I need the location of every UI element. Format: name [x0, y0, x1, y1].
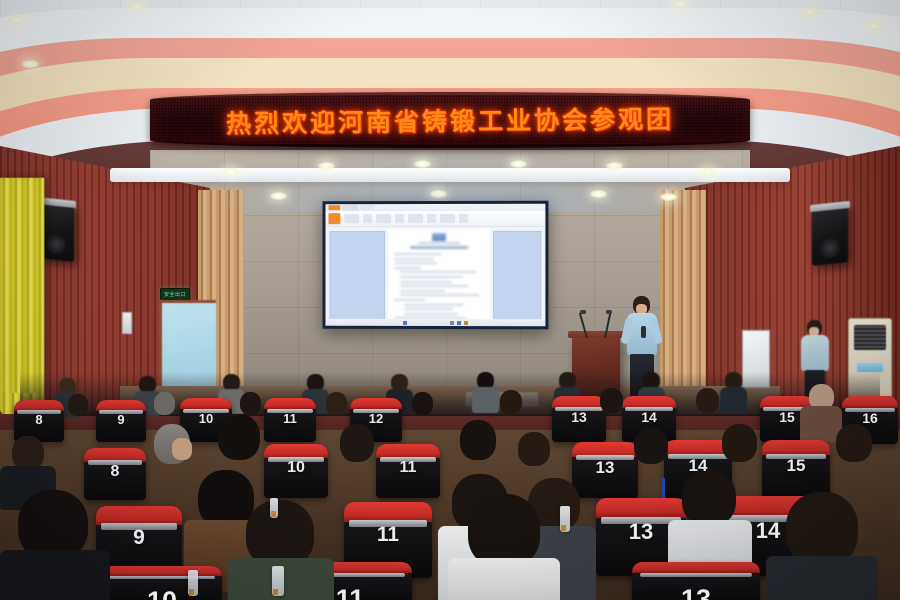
seat-number: 13 [596, 458, 615, 478]
seat-number: 14 [641, 409, 657, 425]
downlight-icon [222, 168, 239, 176]
audience-member [0, 490, 110, 600]
app-ribbon-toolbar [325, 211, 545, 227]
downlight-icon [430, 190, 447, 198]
ribbon-button [440, 214, 455, 223]
audience-head [460, 420, 496, 460]
document-page [388, 229, 490, 323]
water-bottle [272, 566, 284, 596]
seat-number: 16 [862, 410, 878, 426]
app-tab-chip [422, 205, 456, 210]
audience-head [500, 390, 522, 414]
ribbon-accent-button [328, 213, 340, 224]
downlight-icon [414, 160, 431, 168]
water-bottle [188, 570, 198, 596]
ribbon-button [376, 214, 391, 223]
ribbon-button [427, 214, 436, 223]
document-text-line [394, 262, 437, 264]
document-title-block [410, 246, 468, 249]
seat-number: 10 [147, 586, 177, 600]
app-tab-chip [342, 205, 358, 210]
microphone-icon [606, 310, 612, 314]
ceiling-soffit [110, 168, 790, 182]
downlight-icon [22, 60, 39, 68]
downlight-icon [606, 162, 623, 170]
audience-torso [448, 558, 560, 600]
wall-speaker-right [812, 206, 848, 266]
downlight-icon [510, 160, 527, 168]
audience-head [518, 432, 550, 466]
seat-number: 11 [400, 459, 417, 477]
water-bottle [560, 506, 570, 532]
audience-member [330, 424, 386, 500]
presenter-handheld-mic-icon [641, 326, 646, 338]
downlight-icon [672, 0, 689, 8]
downlight-icon [8, 16, 25, 24]
status-indicator-icon [457, 321, 461, 325]
water-bottle [270, 498, 278, 518]
document-text-line [400, 285, 468, 287]
seat-number: 9 [133, 526, 145, 550]
side-task-pane[interactable] [493, 231, 541, 321]
document-text-line [400, 281, 452, 283]
exit-sign: 安全出口 [160, 288, 190, 300]
ribbon-button [363, 214, 372, 223]
downlight-icon [802, 8, 819, 16]
seat-number: 13 [571, 409, 587, 425]
ribbon-button [344, 214, 359, 223]
exit-sign-label: 安全出口 [164, 291, 186, 298]
audience-member [826, 424, 886, 500]
audience-head [722, 424, 757, 462]
document-text-line [394, 253, 441, 255]
audience-head [154, 392, 175, 415]
audience-head [412, 392, 433, 415]
downlight-icon [660, 193, 677, 201]
audience-head [240, 392, 261, 415]
microphone-icon [580, 310, 586, 314]
status-indicator-icon [403, 320, 407, 324]
auditorium-scene: 热烈欢迎河南省铸锻工业协会参观团 安全出口 [0, 0, 900, 600]
document-text-line [404, 303, 463, 305]
audience-torso [766, 556, 878, 600]
seat[interactable]: 15 [762, 440, 830, 498]
seat-number: 15 [787, 456, 806, 476]
document-text-line [404, 308, 453, 310]
ac-display-icon [857, 363, 882, 372]
status-indicator-icon [464, 321, 468, 325]
document-header-rule [418, 242, 459, 244]
audience-face [172, 438, 192, 460]
seat[interactable]: 13 [632, 562, 760, 600]
podium-top-surface [568, 331, 624, 338]
seat-number: 11 [283, 411, 297, 426]
audience-head [634, 428, 668, 464]
audience-member [60, 394, 94, 444]
downlight-icon [866, 22, 883, 30]
ribbon-button [395, 214, 404, 223]
document-text-line [394, 267, 421, 269]
seat-number: 11 [377, 523, 399, 547]
audience-head [600, 388, 623, 413]
seat-number: 13 [681, 584, 711, 600]
document-text-line [400, 290, 445, 292]
document-text-line [394, 299, 425, 301]
projection-screen[interactable] [323, 201, 549, 330]
seat[interactable]: 9 [96, 400, 146, 442]
audience-head [340, 424, 374, 462]
audience-head [786, 492, 858, 566]
document-text-line [400, 294, 479, 296]
downlight-icon [700, 168, 717, 176]
seat-number: 14 [756, 518, 780, 544]
audience-head [326, 392, 347, 415]
seat-number: 10 [199, 411, 213, 426]
stage-curtain-right [0, 178, 44, 403]
seat-number: 8 [35, 412, 42, 427]
downlight-icon [128, 2, 145, 10]
led-welcome-banner: 热烈欢迎河南省铸锻工业协会参观团 [150, 92, 750, 148]
seat[interactable]: 10 [264, 444, 328, 498]
status-indicator-icon [450, 321, 454, 325]
downlight-icon [590, 190, 607, 198]
audience-member [448, 494, 560, 600]
seat-number: 13 [629, 519, 653, 545]
seat-number: 12 [369, 411, 383, 426]
document-text-line [394, 258, 434, 260]
seat-number: 11 [336, 584, 365, 600]
audience-head [836, 424, 872, 462]
document-workspace [325, 227, 545, 325]
audience-head [468, 494, 540, 568]
seat[interactable]: 10 [102, 566, 222, 600]
app-tab-chip [328, 205, 340, 210]
document-text-line [400, 271, 476, 273]
audience-member [766, 492, 878, 600]
document-logo-icon [432, 233, 446, 241]
assistant-torso [801, 335, 829, 371]
downlight-icon [270, 192, 287, 200]
ribbon-button [459, 214, 468, 223]
audience-torso [0, 550, 110, 600]
seat-number: 9 [117, 412, 124, 427]
audience-member [404, 392, 440, 444]
audience-head [696, 388, 719, 413]
audience-head [218, 414, 260, 460]
app-status-bar [325, 319, 545, 326]
seat-number: 10 [287, 459, 305, 477]
audience-head [12, 436, 44, 470]
app-tab-chip [360, 205, 374, 210]
audience-head [682, 470, 736, 526]
led-banner-text: 热烈欢迎河南省铸锻工业协会参观团 [226, 100, 674, 141]
seat-number: 8 [111, 463, 120, 481]
wall-control-box [122, 312, 132, 334]
seat-number: 14 [689, 456, 708, 476]
document-text-line [400, 276, 463, 278]
document-text-line [404, 313, 458, 315]
ac-grille-icon [854, 325, 886, 350]
navigation-pane[interactable] [329, 231, 385, 321]
seat-number: 15 [779, 409, 795, 425]
ribbon-button [408, 214, 423, 223]
downlight-icon [318, 162, 335, 170]
lanyard [662, 478, 665, 498]
audience-head [68, 394, 88, 416]
